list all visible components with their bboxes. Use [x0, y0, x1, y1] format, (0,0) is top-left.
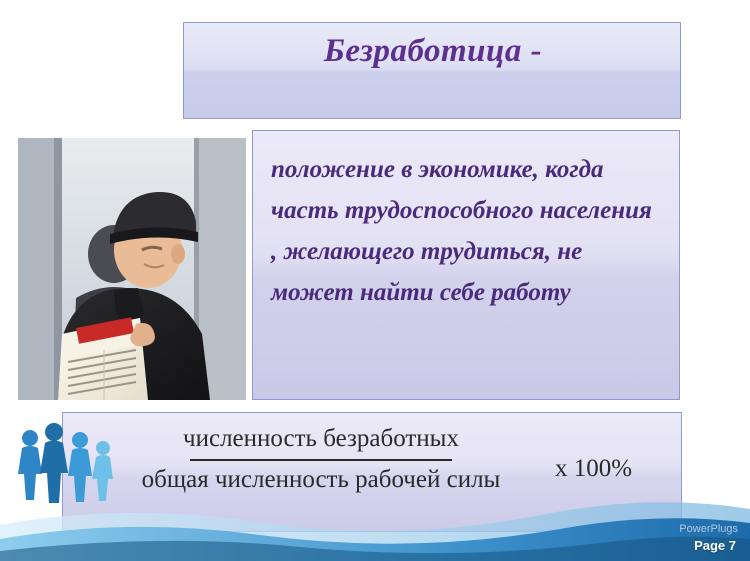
- page-title: Безработица -: [184, 31, 682, 71]
- people-silhouette-graphic: [8, 418, 128, 528]
- title-box: Безработица -: [183, 22, 681, 119]
- photo-illustration: [18, 138, 246, 400]
- brand-watermark: PowerPlugs: [679, 523, 738, 535]
- people-icon: [8, 418, 128, 528]
- definition-text: положение в экономике, когда часть трудо…: [271, 149, 661, 313]
- fraction: численность безработных общая численност…: [101, 423, 541, 497]
- photo-man-reading-newspaper: [18, 138, 246, 400]
- slide-root: Безработица -: [0, 0, 750, 561]
- page-number: Page 7: [694, 538, 736, 553]
- definition-box: положение в экономике, когда часть трудо…: [252, 130, 680, 400]
- fraction-bar: [190, 459, 452, 461]
- fraction-denominator: общая численность рабочей силы: [101, 463, 541, 497]
- formula-box: численность безработных общая численност…: [62, 412, 682, 532]
- fraction-numerator: численность безработных: [101, 423, 541, 457]
- formula-multiplier: х 100%: [555, 455, 632, 483]
